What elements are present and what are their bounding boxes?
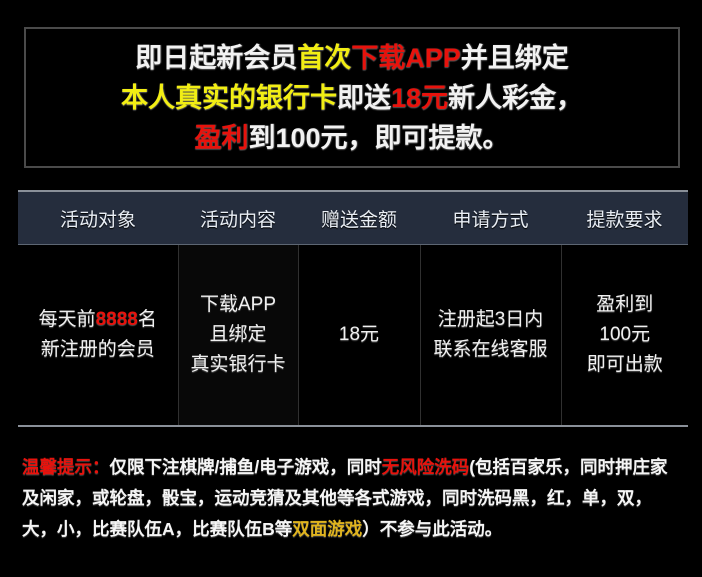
promo-line-2-part-2: 即送 [337, 83, 391, 113]
table-header-amount: 赠送金额 [298, 191, 420, 245]
promo-line-1-part-4: 并且绑定 [461, 43, 569, 73]
cell-apply-line-2: 联系在线客服 [425, 335, 557, 365]
cell-withdraw-line-3: 即可出款 [566, 350, 685, 380]
promo-line-1: 即日起新会员首次下载APP并且绑定 [135, 38, 569, 78]
promo-line-3-part-2: 到100元，即可提款。 [248, 123, 509, 153]
promo-line-2-part-1: 本人真实的银行卡 [121, 83, 337, 113]
promo-line-2-part-3: 18元 [391, 83, 448, 113]
cell-target-count: 8888 [96, 309, 138, 330]
cell-content-line-3: 真实银行卡 [183, 350, 294, 380]
table-header-target: 活动对象 [18, 191, 178, 245]
promo-line-3: 盈利到100元，即可提款。 [194, 118, 509, 158]
cell-target-line-2: 新注册的会员 [22, 335, 174, 365]
cell-content-line-2: 且绑定 [183, 320, 294, 350]
table-header-withdraw: 提款要求 [561, 191, 688, 245]
promo-line-1-part-3: 下载APP [351, 43, 461, 73]
table-header-apply: 申请方式 [420, 191, 561, 245]
cell-content-line-1: 下载APP [183, 290, 294, 320]
cell-apply-line-1: 注册起3日内 [425, 305, 557, 335]
promo-line-2: 本人真实的银行卡即送18元新人彩金， [121, 78, 583, 118]
table-header-row: 活动对象 活动内容 赠送金额 申请方式 提款要求 [18, 191, 688, 245]
cell-target-prefix: 每天前 [39, 309, 96, 330]
promo-banner: 即日起新会员首次下载APP并且绑定 本人真实的银行卡即送18元新人彩金， 盈利到… [24, 27, 680, 168]
cell-target-suffix: 名 [138, 309, 157, 330]
footer-notice-text-3: ）不参与此活动。 [362, 519, 502, 539]
cell-apply-method: 注册起3日内 联系在线客服 [420, 245, 561, 427]
cell-withdraw-requirement: 盈利到 100元 即可出款 [561, 245, 688, 427]
table-body: 每天前8888名 新注册的会员 下载APP 且绑定 真实银行卡 18元 注册起3… [18, 245, 688, 427]
promo-line-2-part-4: 新人彩金， [448, 83, 583, 113]
cell-activity-content: 下载APP 且绑定 真实银行卡 [178, 245, 298, 427]
cell-withdraw-line-1: 盈利到 [566, 290, 685, 320]
cell-withdraw-line-2: 100元 [566, 320, 685, 350]
footer-notice-highlight-2: 双面游戏 [292, 519, 362, 539]
table-header: 活动对象 活动内容 赠送金额 申请方式 提款要求 [18, 191, 688, 245]
promo-line-3-part-1: 盈利 [194, 123, 248, 153]
promo-line-1-part-1: 即日起新会员 [135, 43, 297, 73]
footer-notice: 温馨提示：仅限下注棋牌/捕鱼/电子游戏，同时无风险洗码(包括百家乐，同时押庄家及… [22, 452, 684, 545]
cell-activity-target: 每天前8888名 新注册的会员 [18, 245, 178, 427]
promotion-details-table: 活动对象 活动内容 赠送金额 申请方式 提款要求 每天前8888名 新注册的会员… [18, 190, 688, 427]
footer-notice-text-1: 仅限下注棋牌/捕鱼/电子游戏，同时 [110, 457, 382, 477]
cell-gift-amount: 18元 [298, 245, 420, 427]
promo-line-1-part-2: 首次 [297, 43, 351, 73]
cell-target-line-1: 每天前8888名 [22, 305, 174, 335]
footer-notice-highlight-1: 无风险洗码 [382, 457, 470, 477]
table-header-content: 活动内容 [178, 191, 298, 245]
table-row: 每天前8888名 新注册的会员 下载APP 且绑定 真实银行卡 18元 注册起3… [18, 245, 688, 427]
footer-notice-label: 温馨提示： [22, 457, 110, 477]
